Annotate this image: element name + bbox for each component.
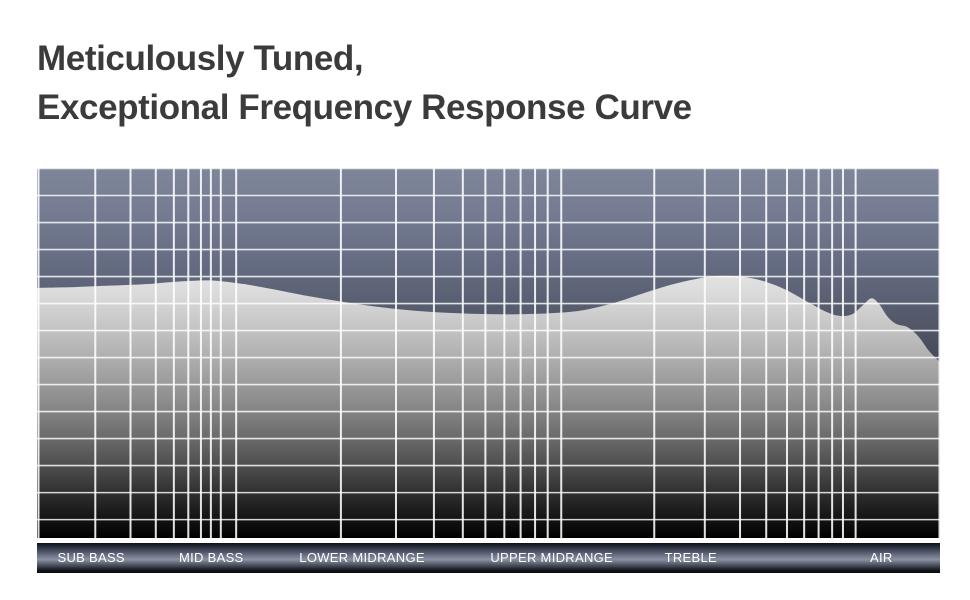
page-title-line-2: Exceptional Frequency Response Curve [37,83,917,132]
frequency-band-bar: SUB BASSMID BASSLOWER MIDRANGEUPPER MIDR… [37,543,940,573]
band-label-lower-midrange: LOWER MIDRANGE [262,543,462,573]
plot-area [37,168,940,538]
frequency-response-chart: SUB BASSMID BASSLOWER MIDRANGEUPPER MIDR… [37,168,940,573]
band-label-treble: TREBLE [591,543,791,573]
band-label-air: AIR [781,543,940,573]
page-title-line-1: Meticulously Tuned, [37,34,917,83]
frequency-response-plot [37,168,940,538]
page-title: Meticulously Tuned, Exceptional Frequenc… [37,34,917,132]
